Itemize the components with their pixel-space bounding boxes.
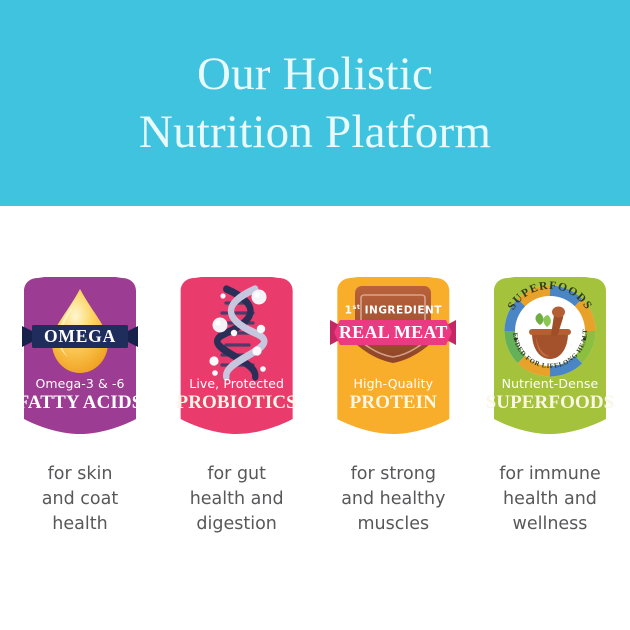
shield-ingredient-rest: INGREDIENT: [360, 305, 441, 317]
badge-subtitle-superfoods: Nutrient-Dense: [484, 376, 616, 391]
shield-ingredient-label: 1st INGREDIENT: [327, 303, 459, 317]
real-meat-ribbon-label: REAL MEAT: [327, 319, 459, 346]
badge-fatty-acids[interactable]: OMEGA Omega-3 & -6 FATTY ACIDS: [14, 277, 146, 435]
real-meat-ribbon: REAL MEAT: [327, 319, 459, 346]
badge-title-probiotics: PROBIOTICS: [171, 392, 303, 413]
dna-helix-icon: [171, 281, 303, 381]
page-title: Our Holistic Nutrition Platform: [129, 45, 501, 161]
badge-subtitle-fatty-acids: Omega-3 & -6: [14, 376, 146, 391]
badge-subtitle-protein: High-Quality: [327, 376, 459, 391]
badge-superfoods[interactable]: SUPERFOODS BLENDED FOR LIFELONG HEALTH N…: [484, 277, 616, 435]
omega-banner: OMEGA: [14, 323, 146, 350]
caption-fatty-acids: for skin and coat health: [14, 462, 146, 537]
badge-protein[interactable]: 1st INGREDIENT REAL MEAT High-Quality PR…: [327, 277, 459, 435]
caption-probiotics: for gut health and digestion: [171, 462, 303, 537]
badge-subtitle-probiotics: Live, Protected: [171, 376, 303, 391]
caption-superfoods: for immune health and wellness: [484, 462, 616, 537]
infographic-page: Our Holistic Nutrition Platform: [0, 0, 630, 630]
badge-probiotics[interactable]: Live, Protected PROBIOTICS: [171, 277, 303, 435]
badge-row: OMEGA Omega-3 & -6 FATTY ACIDS: [0, 277, 630, 437]
caption-protein: for strong and healthy muscles: [327, 462, 459, 537]
omega-banner-label: OMEGA: [14, 323, 146, 350]
badge-title-fatty-acids: FATTY ACIDS: [14, 392, 146, 413]
badge-title-protein: PROTEIN: [327, 392, 459, 413]
badge-title-superfoods: SUPERFOODS: [484, 392, 616, 413]
caption-row: for skin and coat health for gut health …: [0, 462, 630, 537]
header-band: Our Holistic Nutrition Platform: [0, 0, 630, 206]
mortar-pestle-seal-icon: SUPERFOODS BLENDED FOR LIFELONG HEALTH: [484, 281, 616, 381]
